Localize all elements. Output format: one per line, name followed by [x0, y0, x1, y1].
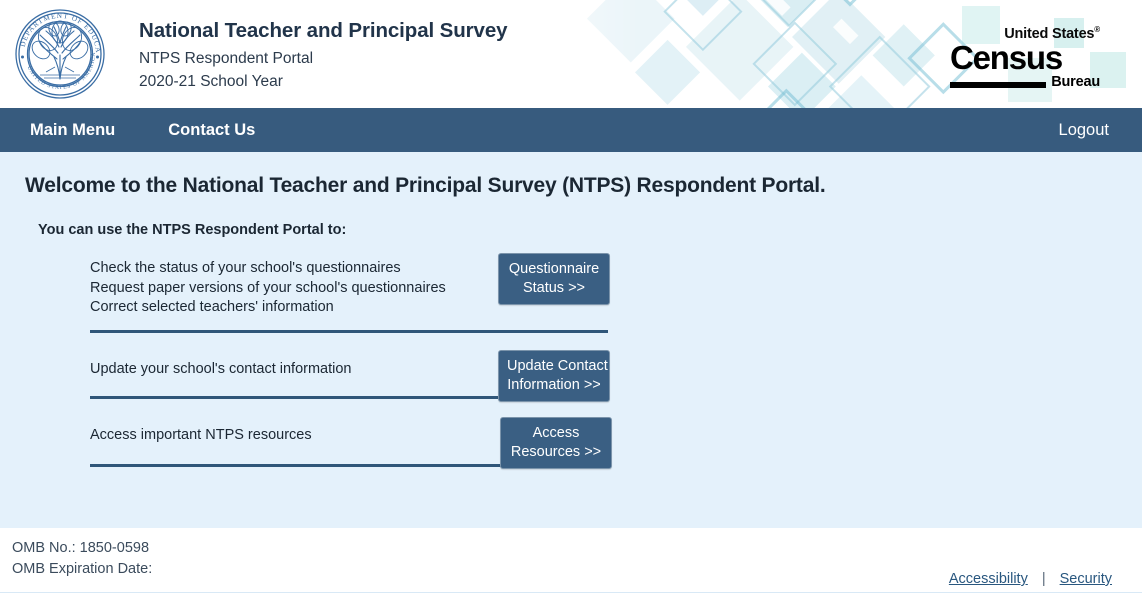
task-list: Check the status of your school's questi…: [90, 257, 610, 467]
footer-link-separator: |: [1028, 571, 1060, 587]
task-row: Access important NTPS resources Access R…: [90, 424, 610, 446]
census-bar-row: Bureau: [950, 75, 1100, 90]
logout-link[interactable]: Logout: [1059, 108, 1109, 152]
button-wrapper: Questionnaire Status >>: [498, 253, 610, 305]
nav-left-group: Main Menu Contact Us: [0, 108, 255, 152]
nav-item-contact-us[interactable]: Contact Us: [168, 108, 255, 152]
security-link[interactable]: Security: [1060, 571, 1112, 587]
accessibility-link[interactable]: Accessibility: [949, 571, 1028, 587]
button-label-line2: Resources >>: [509, 443, 603, 462]
census-wordmark: Census: [950, 41, 1100, 74]
questionnaire-status-button[interactable]: Questionnaire Status >>: [498, 253, 610, 305]
header-title-group: National Teacher and Principal Survey NT…: [139, 18, 507, 93]
welcome-heading: Welcome to the National Teacher and Prin…: [25, 174, 825, 198]
page-title: National Teacher and Principal Survey: [139, 18, 507, 44]
button-label-line1: Access: [533, 425, 580, 441]
intro-text: You can use the NTPS Respondent Portal t…: [38, 222, 346, 238]
button-label-line1: Questionnaire: [509, 261, 599, 277]
school-year-label: 2020-21 School Year: [139, 70, 507, 93]
census-underline-bar: [950, 82, 1046, 88]
task-divider: [90, 330, 608, 333]
census-bureau-label: Bureau: [1046, 75, 1100, 90]
main-navigation-bar: Main Menu Contact Us Logout: [0, 108, 1142, 152]
site-footer: OMB No.: 1850-0598 OMB Expiration Date: …: [0, 528, 1142, 602]
omb-expiration-date: OMB Expiration Date:: [12, 559, 152, 580]
button-label-line1: Update Contact: [507, 358, 608, 374]
access-resources-button[interactable]: Access Resources >>: [500, 417, 612, 469]
footer-links: Accessibility | Security: [949, 571, 1112, 587]
nav-item-main-menu[interactable]: Main Menu: [30, 108, 115, 152]
footer-divider-rule: [0, 592, 1142, 593]
task-block-questionnaire-status: Check the status of your school's questi…: [90, 257, 610, 333]
button-label-line2: Information >>: [507, 376, 601, 395]
registered-mark-icon: ®: [1094, 25, 1100, 34]
omb-info-block: OMB No.: 1850-0598 OMB Expiration Date:: [12, 538, 152, 580]
button-label-line2: Status >>: [507, 279, 601, 298]
site-header: DEPARTMENT OF EDUCATION UNITED STATES OF…: [0, 0, 1142, 108]
button-wrapper: Update Contact Information >>: [498, 350, 610, 402]
department-of-education-seal-icon: DEPARTMENT OF EDUCATION UNITED STATES OF…: [10, 7, 110, 102]
main-content-area: Welcome to the National Teacher and Prin…: [0, 152, 1142, 528]
task-block-access-resources: Access important NTPS resources Access R…: [90, 424, 610, 467]
census-bureau-logo: United States® Census Bureau: [950, 22, 1100, 90]
task-row: Update your school's contact information…: [90, 358, 610, 380]
omb-number: OMB No.: 1850-0598: [12, 538, 152, 559]
portal-subtitle: NTPS Respondent Portal: [139, 47, 507, 70]
task-row: Check the status of your school's questi…: [90, 257, 610, 318]
task-block-update-contact: Update your school's contact information…: [90, 358, 610, 400]
update-contact-information-button[interactable]: Update Contact Information >>: [498, 350, 610, 402]
button-wrapper: Access Resources >>: [500, 417, 612, 469]
